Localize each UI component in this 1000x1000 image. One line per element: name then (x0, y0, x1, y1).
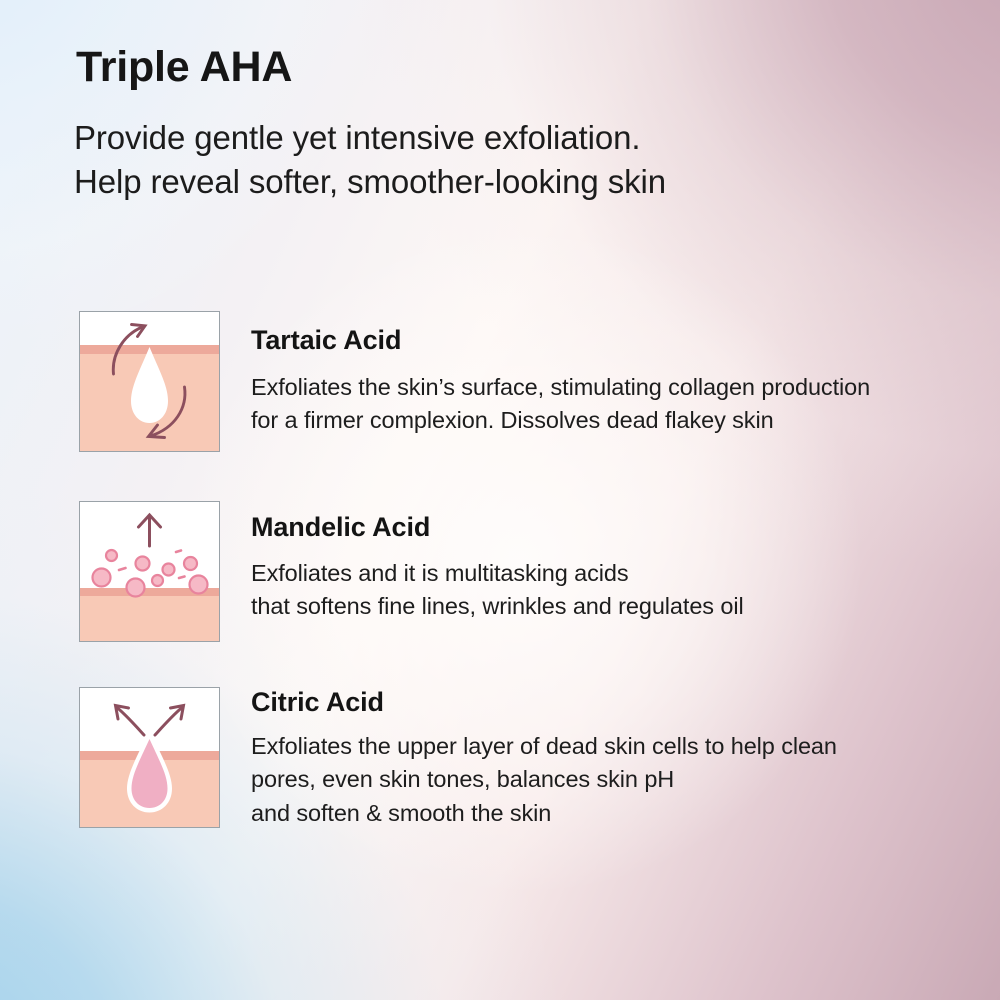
description-line: Exfoliates the upper layer of dead skin … (251, 730, 837, 763)
skin-layer-pink-droplet-splitting-arrows-icon (79, 687, 220, 828)
ingredient-heading: Citric Acid (251, 689, 837, 716)
ingredient-description: Exfoliates the skin’s surface, stimulati… (251, 371, 870, 438)
description-line: and soften & smooth the skin (251, 797, 837, 830)
ingredient-description: Exfoliates and it is multitasking acids … (251, 557, 744, 624)
ingredient-heading: Mandelic Acid (251, 514, 744, 541)
page-title: Triple AHA (76, 45, 292, 90)
ingredient-text-tartaic-acid: Tartaic Acid Exfoliates the skin’s surfa… (251, 311, 870, 438)
ingredient-heading: Tartaic Acid (251, 327, 870, 354)
subtitle-line-2: Help reveal softer, smoother-looking ski… (74, 160, 666, 204)
ingredient-text-citric-acid: Citric Acid Exfoliates the upper layer o… (251, 687, 837, 830)
page-subtitle: Provide gentle yet intensive exfoliation… (74, 116, 666, 204)
description-line: Exfoliates and it is multitasking acids (251, 557, 744, 590)
subtitle-line-1: Provide gentle yet intensive exfoliation… (74, 116, 666, 160)
ingredient-text-mandelic-acid: Mandelic Acid Exfoliates and it is multi… (251, 501, 744, 624)
description-line: Exfoliates the skin’s surface, stimulati… (251, 371, 870, 404)
content-area: Triple AHA Provide gentle yet intensive … (0, 0, 1000, 1000)
description-line: for a firmer complexion. Dissolves dead … (251, 404, 870, 437)
skin-layer-droplet-circulating-arrows-icon (79, 311, 220, 452)
ingredient-description: Exfoliates the upper layer of dead skin … (251, 730, 837, 830)
skin-layer-particles-up-arrow-icon (79, 501, 220, 642)
infographic-canvas: Triple AHA Provide gentle yet intensive … (0, 0, 1000, 1000)
description-line: that softens fine lines, wrinkles and re… (251, 590, 744, 623)
description-line: pores, even skin tones, balances skin pH (251, 763, 837, 796)
